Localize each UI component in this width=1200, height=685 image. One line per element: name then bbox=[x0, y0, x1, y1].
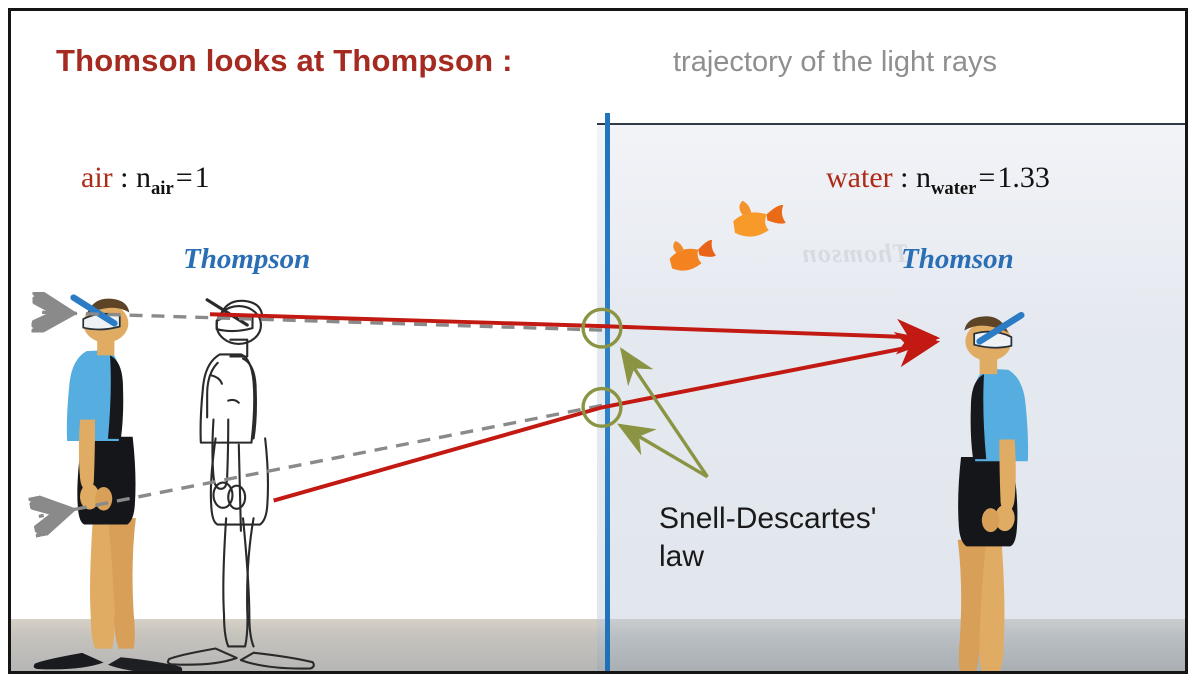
figure-thomson-observer bbox=[911, 315, 1062, 674]
snell-descartes-law-label: Snell-Descartes' law bbox=[659, 500, 889, 577]
diagram-canvas: Thomson Thomson looks at Thompson : traj… bbox=[0, 0, 1200, 685]
callout-arrow-to-upper-circle bbox=[622, 350, 708, 477]
callout-arrow-to-lower-circle bbox=[620, 425, 708, 477]
snell-law-line-2: law bbox=[659, 538, 889, 576]
light-ray-upper bbox=[210, 314, 936, 338]
snell-law-line-1: Snell-Descartes' bbox=[659, 500, 889, 538]
light-ray-lower bbox=[274, 342, 937, 501]
figure-thompson-real bbox=[34, 298, 183, 674]
fish-icon-right bbox=[731, 195, 787, 239]
figure-thompson-virtual-outline bbox=[168, 300, 314, 669]
diagram-overlay bbox=[11, 11, 1185, 671]
diagram-frame: Thomson Thomson looks at Thompson : traj… bbox=[8, 8, 1188, 674]
fish-icon-left bbox=[666, 232, 718, 273]
